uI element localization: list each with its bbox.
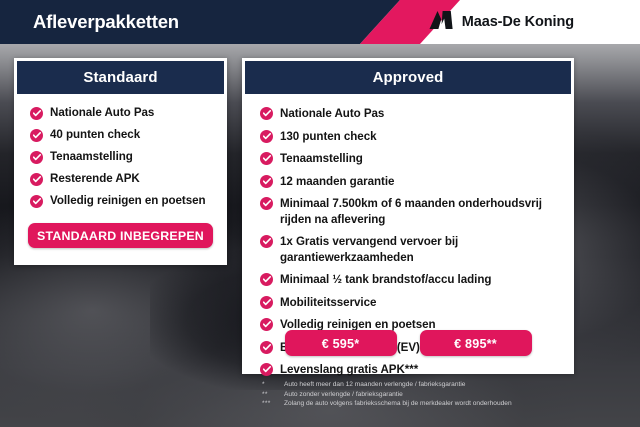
check-circle-icon bbox=[260, 197, 273, 210]
feature-label: 1x Gratis vervangend vervoer bij garanti… bbox=[280, 234, 564, 265]
feature-list-standaard: Nationale Auto Pas 40 punten check Tenaa… bbox=[14, 94, 227, 209]
footnote-triple-asterisk: *** Zolang de auto volgens fabrieksschem… bbox=[262, 399, 622, 409]
feature-label: Levenslang gratis APK*** bbox=[280, 362, 418, 378]
slide-canvas: Afleverpakketten Maas-De Koning Standaar… bbox=[0, 0, 640, 427]
standaard-inbegrepen-button[interactable]: STANDAARD INBEGREPEN bbox=[28, 223, 213, 248]
footnote-text: Auto zonder verlengde / fabrieksgarantie bbox=[284, 390, 403, 400]
list-item: Tenaamstelling bbox=[242, 151, 574, 167]
feature-label: Tenaamstelling bbox=[280, 151, 363, 167]
footnote-marker: *** bbox=[262, 399, 284, 409]
feature-label: Nationale Auto Pas bbox=[50, 106, 154, 121]
feature-label: Minimaal 7.500km of 6 maanden onderhouds… bbox=[280, 196, 564, 227]
check-circle-icon bbox=[260, 130, 273, 143]
feature-label: 130 punten check bbox=[280, 129, 377, 145]
price-button-895[interactable]: € 895** bbox=[420, 330, 532, 356]
check-circle-icon bbox=[260, 296, 273, 309]
list-item: Nationale Auto Pas bbox=[242, 106, 574, 122]
check-circle-icon bbox=[260, 273, 273, 286]
list-item: Volledig reinigen en poetsen bbox=[14, 194, 227, 209]
footnote-text: Zolang de auto volgens fabrieksschema bi… bbox=[284, 399, 512, 409]
check-circle-icon bbox=[260, 175, 273, 188]
check-circle-icon bbox=[30, 107, 43, 120]
card-title-standaard: Standaard bbox=[17, 61, 224, 94]
check-circle-icon bbox=[260, 363, 273, 376]
feature-label: Tenaamstelling bbox=[50, 150, 133, 165]
page-header: Afleverpakketten Maas-De Koning bbox=[0, 0, 640, 44]
footnote-marker: * bbox=[262, 380, 284, 390]
package-card-standaard: Standaard Nationale Auto Pas 40 punten c… bbox=[14, 58, 227, 265]
card-title-approved: Approved bbox=[245, 61, 571, 94]
list-item: Nationale Auto Pas bbox=[14, 106, 227, 121]
check-circle-icon bbox=[260, 152, 273, 165]
brand-lockup: Maas-De Koning bbox=[428, 0, 574, 44]
feature-label: Minimaal ½ tank brandstof/accu lading bbox=[280, 272, 491, 288]
footnote-text: Auto heeft meer dan 12 maanden verlengde… bbox=[284, 380, 465, 390]
check-circle-icon bbox=[30, 195, 43, 208]
price-button-595[interactable]: € 595* bbox=[285, 330, 397, 356]
footnote-marker: ** bbox=[262, 390, 284, 400]
feature-label: Resterende APK bbox=[50, 172, 140, 187]
list-item: 1x Gratis vervangend vervoer bij garanti… bbox=[242, 234, 574, 265]
check-circle-icon bbox=[260, 235, 273, 248]
list-item: Resterende APK bbox=[14, 172, 227, 187]
feature-label: 40 punten check bbox=[50, 128, 140, 143]
footnotes-block: * Auto heeft meer dan 12 maanden verleng… bbox=[262, 380, 622, 409]
check-circle-icon bbox=[30, 129, 43, 142]
list-item: Tenaamstelling bbox=[14, 150, 227, 165]
check-circle-icon bbox=[260, 107, 273, 120]
price-button-row: € 595* € 895** bbox=[242, 330, 574, 356]
maas-de-koning-m-logo-icon bbox=[428, 10, 454, 35]
page-title: Afleverpakketten bbox=[33, 0, 179, 44]
package-card-approved: Approved Nationale Auto Pas 130 punten c… bbox=[242, 58, 574, 374]
check-circle-icon bbox=[30, 151, 43, 164]
list-item: Minimaal ½ tank brandstof/accu lading bbox=[242, 272, 574, 288]
list-item: Levenslang gratis APK*** bbox=[242, 362, 574, 378]
brand-name: Maas-De Koning bbox=[462, 14, 574, 30]
standaard-button-row: STANDAARD INBEGREPEN bbox=[14, 223, 227, 248]
footnote-double-asterisk: ** Auto zonder verlengde / fabrieksgaran… bbox=[262, 390, 622, 400]
footnote-single-asterisk: * Auto heeft meer dan 12 maanden verleng… bbox=[262, 380, 622, 390]
list-item: 40 punten check bbox=[14, 128, 227, 143]
list-item: Mobiliteitsservice bbox=[242, 295, 574, 311]
check-circle-icon bbox=[30, 173, 43, 186]
feature-label: Volledig reinigen en poetsen bbox=[50, 194, 206, 209]
feature-label: Nationale Auto Pas bbox=[280, 106, 384, 122]
list-item: Minimaal 7.500km of 6 maanden onderhouds… bbox=[242, 196, 574, 227]
feature-label: 12 maanden garantie bbox=[280, 174, 394, 190]
list-item: 130 punten check bbox=[242, 129, 574, 145]
list-item: 12 maanden garantie bbox=[242, 174, 574, 190]
feature-label: Mobiliteitsservice bbox=[280, 295, 376, 311]
